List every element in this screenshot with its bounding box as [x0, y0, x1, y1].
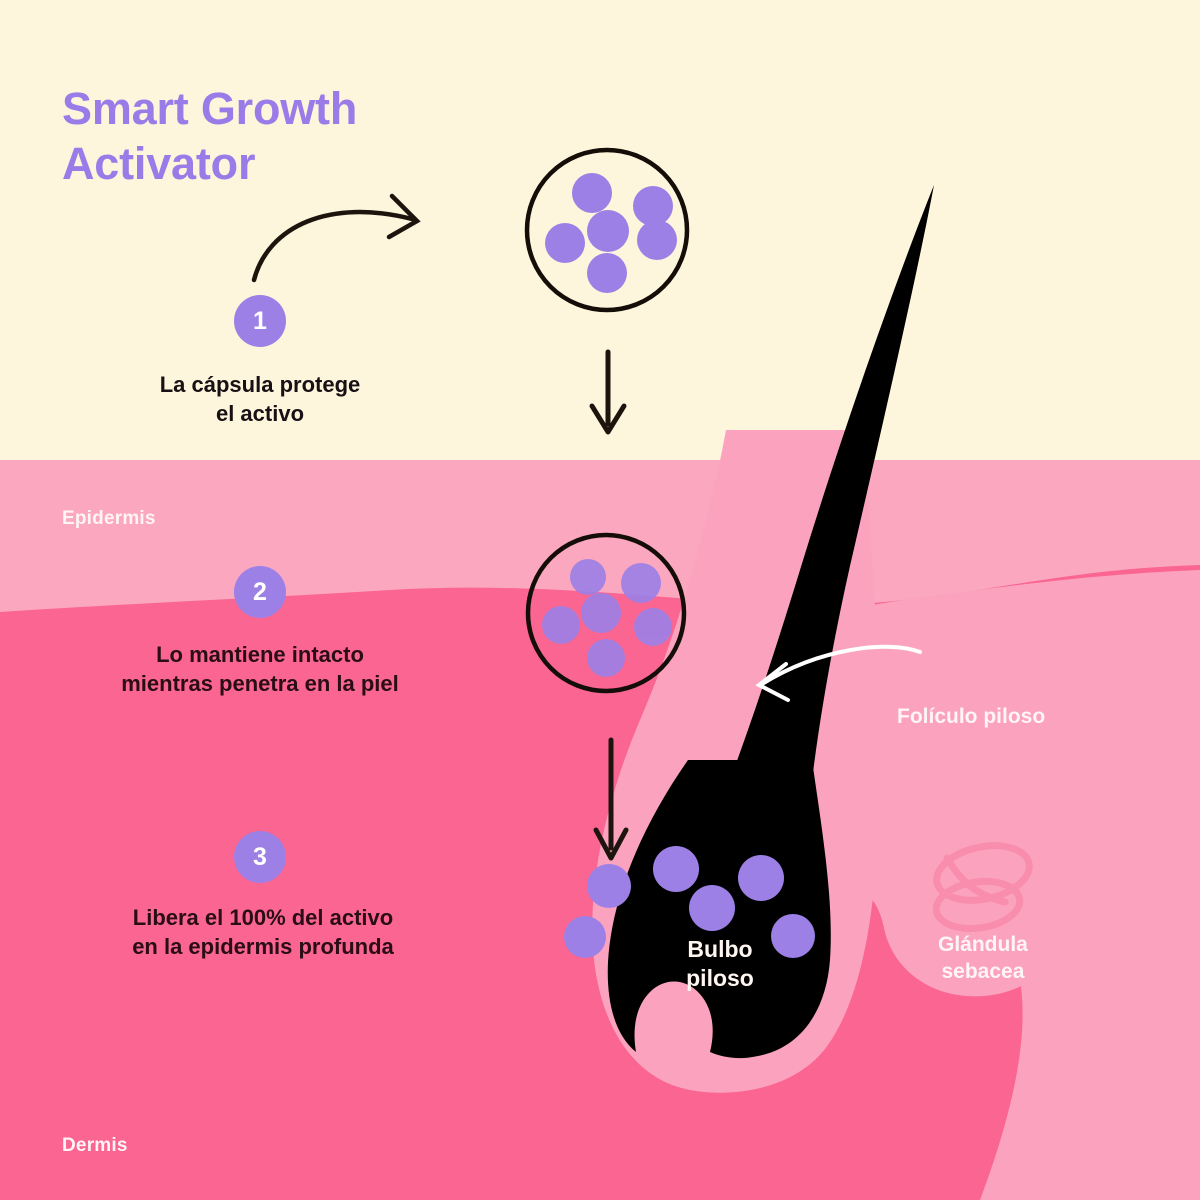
dermis-layer-label: Dermis	[62, 1135, 128, 1157]
step-badge-3: 3	[234, 831, 286, 883]
step-description-3: Libera el 100% del activo en la epidermi…	[58, 903, 468, 962]
step-description-1: La cápsula protege el activo	[60, 370, 460, 429]
epidermis-layer-label: Epidermis	[62, 508, 156, 530]
step-badge-2: 2	[234, 566, 286, 618]
step-description-2: Lo mantiene intacto mientras penetra en …	[50, 640, 470, 699]
hair-bulb-label: Bulbo piloso	[630, 935, 810, 994]
follicle-label: Folículo piloso	[897, 703, 1045, 730]
infographic-canvas: Smart Growth Activator 1 La cápsula prot…	[0, 0, 1200, 1200]
sebaceous-gland-label: Glándula sebacea	[938, 931, 1028, 986]
step-badge-1: 1	[234, 295, 286, 347]
page-title: Smart Growth Activator	[62, 82, 582, 192]
